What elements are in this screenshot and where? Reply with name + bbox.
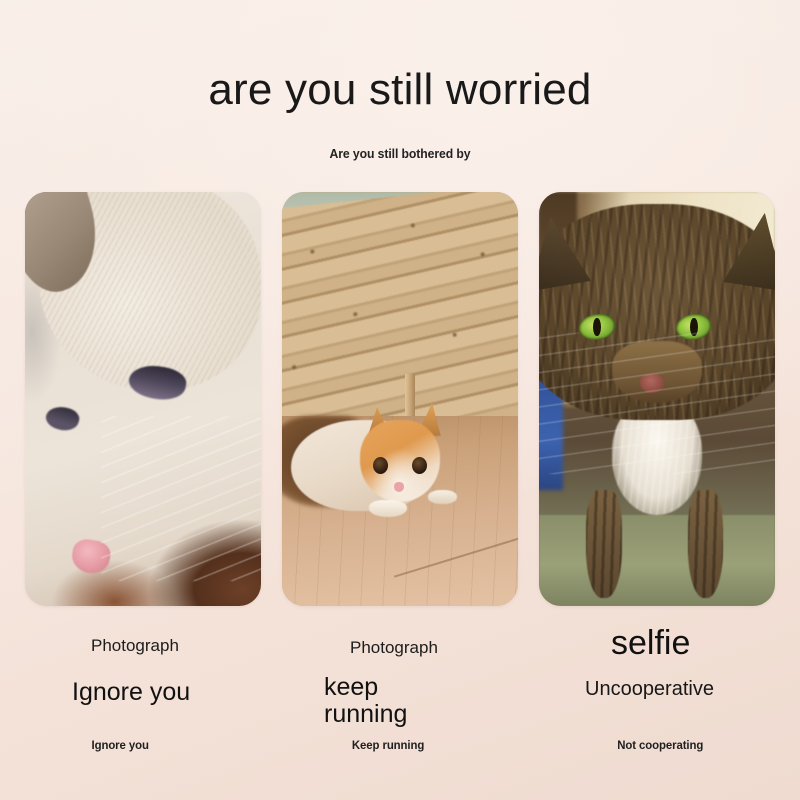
cat-photo-white [25,192,261,606]
caption-sub-1: Ignore you [92,738,149,752]
cat-paw-shape [428,490,456,504]
cat-photo-orange [282,192,518,606]
cat-whiskers-shape [539,333,775,474]
photo-card-2[interactable] [282,192,518,606]
caption-row: Photograph Ignore you Ignore you Photogr… [25,606,775,796]
photo-card-row [25,192,775,606]
cat-nose-shape [394,482,403,492]
cat-whiskers-shape [101,416,261,582]
cat-photo-tabby [539,192,775,606]
caption-kicker-1: Photograph [91,636,191,656]
caption-sub-2: Keep running [352,738,424,752]
photo-card-1[interactable] [25,192,261,606]
page-title: are you still worried [0,66,800,114]
caption-main-1: Ignore you [72,678,190,706]
caption-block-1: Photograph Ignore you Ignore you [25,606,261,796]
caption-kicker-2: Photograph [350,638,450,658]
caption-main-2: keep running [324,674,454,728]
cat-leg-shape [586,490,621,598]
floor-shape [539,515,775,606]
photo-card-3[interactable] [539,192,775,606]
caption-block-2: Photograph keep running Keep running [282,606,518,796]
cat-leg-shape [688,490,723,598]
caption-main-3: selfie [611,624,690,662]
caption-mid-3: Uncooperative [585,678,714,701]
cat-paw-shape [369,500,407,517]
page-subtitle: Are you still bothered by [24,146,776,161]
caption-block-3: selfie Uncooperative Not cooperating [539,606,775,796]
cat-eye-left-shape [44,403,82,434]
caption-sub-3: Not cooperating [617,738,703,752]
poster-canvas: are you still worried Are you still both… [0,0,800,800]
